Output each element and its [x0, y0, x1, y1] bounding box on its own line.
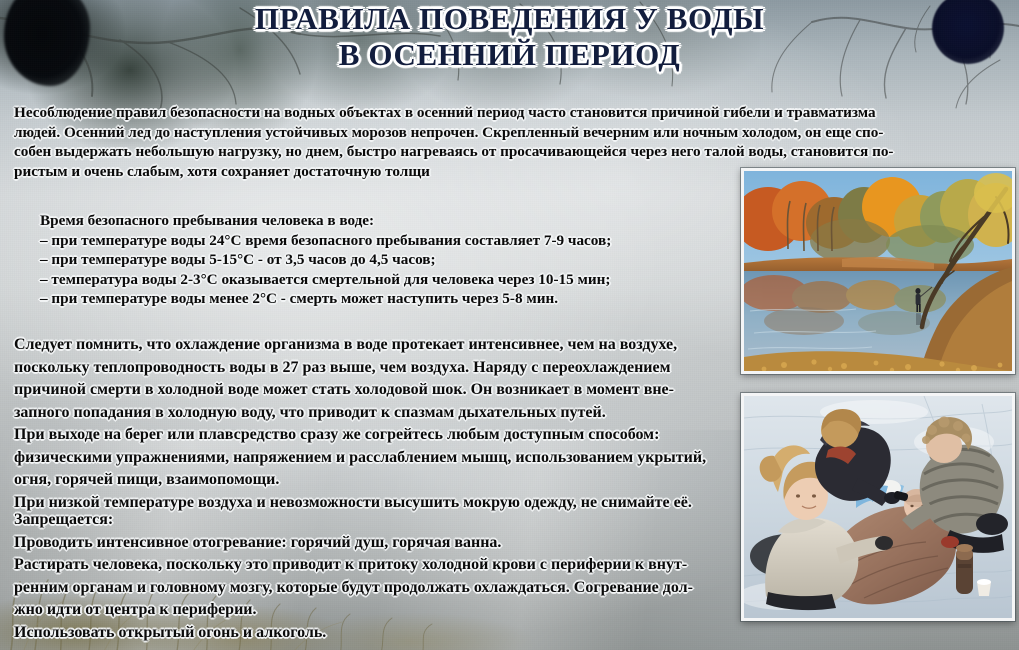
shore-line-2: физическими упражнениями, напряжением и …: [14, 447, 744, 470]
safe-time-item-3: – температура воды 2-3°C оказывается сме…: [40, 270, 740, 290]
forbidden-line-3: ренним органам и головному мозгу, которы…: [14, 577, 744, 600]
shore-line-1: При выходе на берег или плавсредство сра…: [14, 424, 744, 447]
forbidden-heading: Запрещается:: [14, 509, 744, 532]
cooling-paragraph: Следует помнить, что охлаждение организм…: [14, 334, 744, 424]
cooling-line-2: поскольку теплопроводность воды в 27 раз…: [14, 357, 744, 380]
intro-line-1: Несоблюдение правил безопасности на водн…: [14, 103, 1010, 123]
intro-line-2: людей. Осенний лед до наступления устойч…: [14, 123, 1010, 143]
ice-rescue-photo: [741, 393, 1015, 621]
poster: ПРАВИЛА ПОВЕДЕНИЯ У ВОДЫ В ОСЕННИЙ ПЕРИО…: [0, 0, 1019, 650]
shore-line-3: огня, горячей пищи, взаимопомощи.: [14, 469, 744, 492]
intro-line-3: собен выдержать небольшую нагрузку, но д…: [14, 142, 1010, 162]
forbidden-line-5: Использовать открытый огонь и алкоголь.: [14, 622, 744, 645]
shore-paragraph: При выходе на берег или плавсредство сра…: [14, 424, 744, 514]
cooling-line-1: Следует помнить, что охлаждение организм…: [14, 334, 744, 357]
forbidden-line-4: жно идти от центра к периферии.: [14, 599, 744, 622]
forbidden-block: Запрещается: Проводить интенсивное отогр…: [14, 509, 744, 644]
safe-time-heading: Время безопасного пребывания человека в …: [40, 211, 740, 231]
safe-time-item-4: – при температуре воды менее 2°C - смерт…: [40, 289, 740, 309]
title-line-1: ПРАВИЛА ПОВЕДЕНИЯ У ВОДЫ: [0, 0, 1019, 37]
safe-time-block: Время безопасного пребывания человека в …: [40, 211, 740, 309]
poster-title: ПРАВИЛА ПОВЕДЕНИЯ У ВОДЫ В ОСЕННИЙ ПЕРИО…: [0, 0, 1019, 73]
safe-time-item-2: – при температуре воды 5-15°C - от 3,5 ч…: [40, 250, 740, 270]
title-line-2: В ОСЕННИЙ ПЕРИОД: [0, 37, 1019, 73]
forbidden-line-2: Растирать человека, поскольку это привод…: [14, 554, 744, 577]
cooling-line-4: запного попадания в холодную воду, что п…: [14, 402, 744, 425]
autumn-river-photo: [741, 168, 1015, 374]
forbidden-line-1: Проводить интенсивное отогревание: горяч…: [14, 532, 744, 555]
cooling-line-3: причиной смерти в холодной воде может ст…: [14, 379, 744, 402]
safe-time-item-1: – при температуре воды 24°C время безопа…: [40, 231, 740, 251]
